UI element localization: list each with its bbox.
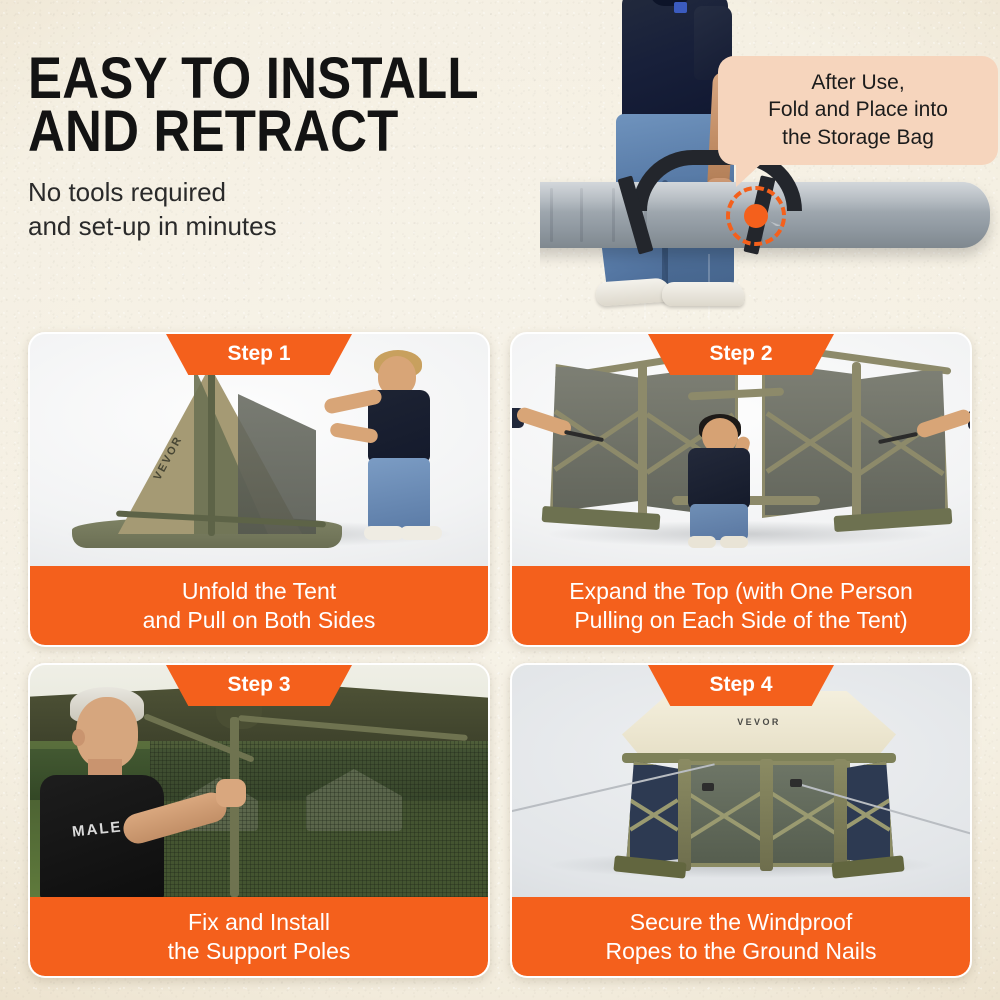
- headline-block: EASY TO INSTALL AND RETRACT No tools req…: [28, 52, 548, 243]
- step-2-caption: Expand the Top (with One Person Pulling …: [512, 566, 970, 645]
- step-3-caption-line-1: Fix and Install: [188, 908, 330, 936]
- step-card-4[interactable]: VEVOR: [510, 663, 972, 978]
- gazebo-panel-cross-brace: [630, 765, 678, 861]
- step-card-2[interactable]: Step 2 Expand the Top (with One Person P…: [510, 332, 972, 647]
- step-3-badge: Step 3: [166, 665, 352, 706]
- gazebo-panel-cross-brace: [842, 765, 890, 861]
- gazebo-panel-far-right: [854, 368, 948, 518]
- bag-crease-3: [612, 188, 615, 242]
- subheadline-block: No tools required and set-up in minutes: [28, 175, 548, 244]
- step-1-caption: Unfold the Tent and Pull on Both Sides: [30, 566, 488, 645]
- storage-bag-highlight-marker: [726, 186, 786, 246]
- gazebo-roof-brand: VEVOR: [737, 717, 781, 727]
- callout-line-3: the Storage Bag: [732, 124, 984, 151]
- person-shoe-left: [364, 526, 404, 540]
- step-4-badge: Step 4: [648, 665, 834, 706]
- step-4-caption: Secure the Windproof Ropes to the Ground…: [512, 897, 970, 976]
- shirt-logo-patch: [674, 2, 687, 13]
- gazebo-right-leg: [852, 362, 861, 520]
- steps-grid: VEVOR Step 1 Unfold the Tent and Pull on…: [28, 332, 972, 978]
- step-2-caption-line-2: Pulling on Each Side of the Tent): [574, 606, 907, 634]
- person-expanding-top: [680, 418, 758, 546]
- step-1-caption-line-2: and Pull on Both Sides: [143, 606, 376, 634]
- gazebo-panel-cross-brace: [686, 765, 762, 863]
- bag-crease-2: [580, 188, 583, 242]
- infographic-page: EASY TO INSTALL AND RETRACT No tools req…: [0, 0, 1000, 1000]
- headline-line-1: EASY TO INSTALL: [28, 52, 486, 105]
- gazebo-left-leg: [638, 362, 647, 520]
- step-4-caption-line-1: Secure the Windproof: [630, 908, 852, 936]
- bag-crease-1: [550, 188, 553, 242]
- subheadline-line-1: No tools required: [28, 175, 548, 209]
- tent-ridge-pole: [208, 368, 215, 536]
- gazebo-panel-2-mesh: [682, 761, 766, 867]
- callout-line-1: After Use,: [732, 69, 984, 96]
- gazebo-leg-3: [834, 759, 847, 871]
- assembled-gazebo: VEVOR: [608, 691, 910, 881]
- step-4-caption-line-2: Ropes to the Ground Nails: [605, 937, 876, 965]
- tent-mesh-panel: [238, 394, 316, 534]
- person-shoe-right: [400, 526, 442, 540]
- person-shirt: [688, 448, 750, 510]
- folded-tent-illustration: VEVOR: [90, 366, 340, 538]
- person-ear: [72, 729, 85, 746]
- person-unfolding-tent: [352, 356, 448, 542]
- gazebo-leg-1: [678, 759, 691, 871]
- gazebo-panel-cross-brace: [857, 371, 945, 515]
- step-1-caption-line-1: Unfold the Tent: [182, 577, 336, 605]
- step-card-1[interactable]: VEVOR Step 1 Unfold the Tent and Pull on…: [28, 332, 490, 647]
- gazebo-panel-right: [762, 362, 858, 518]
- marker-dot: [744, 204, 768, 228]
- person-shoe-left: [688, 536, 716, 548]
- person-shoe-back: [595, 277, 670, 306]
- headline-line-2: AND RETRACT: [28, 105, 486, 158]
- tent-support-pole-vertical: [230, 717, 239, 897]
- step-1-badge: Step 1: [166, 334, 352, 375]
- callout-line-2: Fold and Place into: [732, 96, 984, 123]
- person-pants: [690, 504, 748, 540]
- step-2-caption-line-1: Expand the Top (with One Person: [569, 577, 913, 605]
- person-shoe-right: [720, 536, 748, 548]
- person-pants: [368, 458, 430, 530]
- step-2-badge: Step 2: [648, 334, 834, 375]
- ground-nail-right: [790, 779, 802, 787]
- person-shoe-front: [662, 282, 744, 306]
- ground-nail-left: [702, 783, 714, 791]
- step-card-3[interactable]: MALE Step 3 Fix and Install the Support …: [28, 663, 490, 978]
- person-installing-poles: MALE: [48, 691, 218, 897]
- step-3-caption: Fix and Install the Support Poles: [30, 897, 488, 976]
- gazebo-leg-2: [760, 759, 773, 871]
- storage-bag-callout: After Use, Fold and Place into the Stora…: [718, 56, 998, 165]
- subheadline-line-2: and set-up in minutes: [28, 209, 548, 243]
- person-hand-gripping-pole: [216, 779, 246, 807]
- step-3-caption-line-2: the Support Poles: [168, 937, 351, 965]
